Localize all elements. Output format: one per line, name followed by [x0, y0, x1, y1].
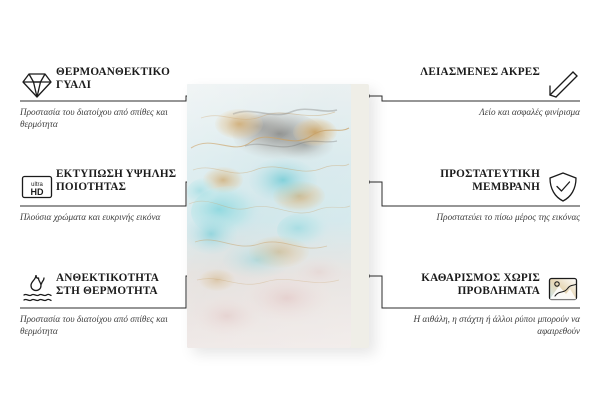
feature-description: Λείο και ασφαλές φινίρισμα — [400, 106, 580, 118]
feature-smooth-edges: ΛΕΙΑΣΜΕΝΕΣ ΑΚΡΕΣ — [416, 66, 540, 79]
feature-easy-cleaning: ΚΑΘΑΡΙΣΜΟΣ ΧΩΡΙΣ ΠΡΟΒΛΗΜΑΤΑ — [416, 272, 540, 298]
ultra-hd-bottom-label: HD — [31, 187, 44, 197]
feature-description: Προστατεύει το πίσω μέρος της εικόνας — [400, 211, 580, 223]
feature-protective-film-desc-wrap: Προστατεύει το πίσω μέρος της εικόνας — [400, 211, 580, 223]
feature-hq-print-desc-wrap: Πλούσια χρώματα και ευκρινής εικόνα — [20, 211, 180, 223]
heat-resistance-icon — [20, 272, 54, 306]
feature-description: Πλούσια χρώματα και ευκρινής εικόνα — [20, 211, 180, 223]
marble-artwork-graphic — [187, 84, 351, 348]
feature-easy-cleaning-desc-wrap: Η αιθάλη, η στάχτη ή άλλοι ρύποι μπορούν… — [400, 313, 580, 337]
shield-icon — [546, 170, 580, 204]
feature-thermal-glass: ΘΕΡΜΟΑΝΘΕΚΤΙΚΟ ΓΥΑΛΙ — [56, 66, 180, 92]
feature-hq-print: ΕΚΤΥΠΩΣΗ ΥΨΗΛΗΣ ΠΟΙΟΤΗΤΑΣ — [56, 168, 182, 194]
feature-thermal-glass-desc-wrap: Προστασία του διατοίχου από σπίθες και θ… — [20, 106, 180, 130]
feature-description: Η αιθάλη, η στάχτη ή άλλοι ρύποι μπορούν… — [400, 313, 580, 337]
feature-title: ΘΕΡΜΟΑΝΘΕΚΤΙΚΟ ΓΥΑΛΙ — [56, 66, 180, 92]
feature-description: Προστασία του διατοίχου από σπίθες και θ… — [20, 106, 180, 130]
diamond-icon — [20, 68, 54, 102]
feature-title: ΑΝΘΕΚΤΙΚΟΤΗΤΑ ΣΤΗ ΘΕΡΜΟΤΗΤΑ — [56, 272, 180, 298]
feature-description: Προστασία του διατοίχου από σπίθες και θ… — [20, 313, 180, 337]
feature-smooth-edges-desc-wrap: Λείο και ασφαλές φινίρισμα — [400, 106, 580, 118]
product-artwork — [187, 84, 351, 348]
feature-title: ΚΑΘΑΡΙΣΜΟΣ ΧΩΡΙΣ ΠΡΟΒΛΗΜΑΤΑ — [416, 272, 540, 298]
product-image-wrapper — [187, 84, 369, 348]
feature-heat-resistance-desc-wrap: Προστασία του διατοίχου από σπίθες και θ… — [20, 313, 180, 337]
infographic-canvas: ΘΕΡΜΟΑΝΘΕΚΤΙΚΟ ΓΥΑΛΙ Προστασία του διατο… — [0, 0, 600, 400]
easy-cleaning-icon — [546, 272, 580, 306]
feature-title: ΠΡΟΣΤΑΤΕΥΤΙΚΗ ΜΕΜΒΡΑΝΗ — [416, 168, 540, 194]
smooth-edges-icon — [546, 68, 580, 102]
feature-protective-film: ΠΡΟΣΤΑΤΕΥΤΙΚΗ ΜΕΜΒΡΑΝΗ — [416, 168, 540, 194]
feature-title: ΕΚΤΥΠΩΣΗ ΥΨΗΛΗΣ ΠΟΙΟΤΗΤΑΣ — [56, 168, 182, 194]
ultra-hd-icon: ultra HD — [20, 170, 54, 204]
feature-heat-resistance: ΑΝΘΕΚΤΙΚΟΤΗΤΑ ΣΤΗ ΘΕΡΜΟΤΗΤΑ — [56, 272, 180, 298]
feature-title: ΛΕΙΑΣΜΕΝΕΣ ΑΚΡΕΣ — [416, 66, 540, 79]
